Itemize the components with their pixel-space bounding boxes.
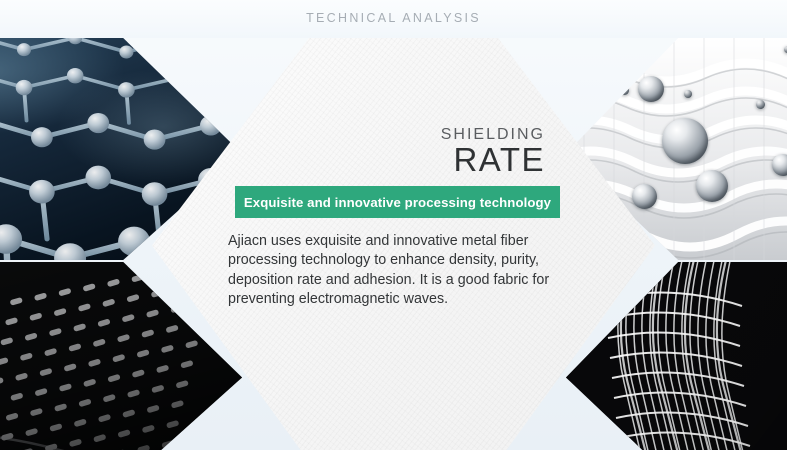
section-headline: RATE (245, 141, 545, 179)
highlight-banner-text: Exquisite and innovative processing tech… (244, 195, 551, 210)
content-layer: SHIELDING RATE Exquisite and innovative … (0, 0, 787, 450)
highlight-banner: Exquisite and innovative processing tech… (235, 186, 560, 218)
technical-analysis-slide: TECHNICAL ANALYSIS SHIELDING RATE Exquis… (0, 0, 787, 450)
body-paragraph: Ajiacn uses exquisite and innovative met… (228, 232, 568, 309)
